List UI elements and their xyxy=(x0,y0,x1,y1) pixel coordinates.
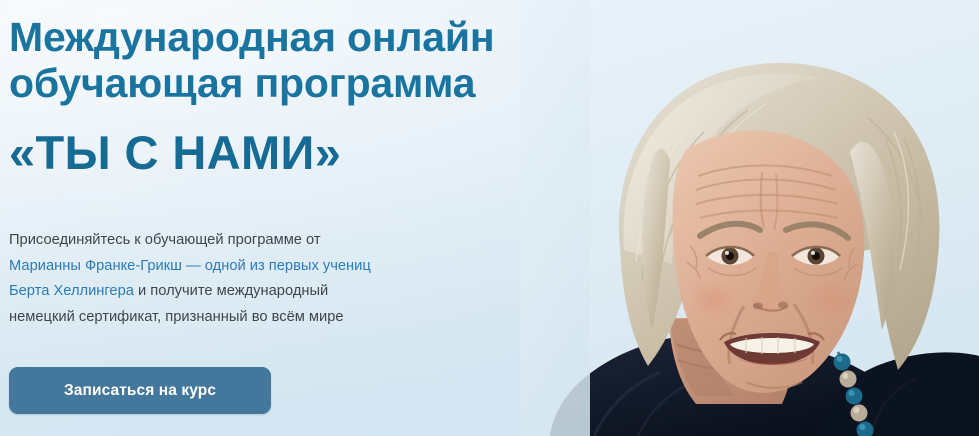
page-title: Международная онлайн обучающая программа xyxy=(9,14,629,106)
hero-banner: Международная онлайн обучающая программа… xyxy=(0,0,979,436)
headline-line-1: Международная онлайн xyxy=(9,14,629,60)
cta-wrapper: Записаться на курс xyxy=(9,367,271,414)
headline-line-2: обучающая программа xyxy=(9,60,629,106)
subcopy-line-3: Берта Хеллингера и получите международны… xyxy=(9,279,509,305)
mentor-name-link[interactable]: Марианны Франке-Грикш — одной из первых … xyxy=(9,258,371,274)
subcopy-line-4: немецкий сертификат, признанный во всём … xyxy=(9,305,509,331)
enroll-button[interactable]: Записаться на курс xyxy=(9,367,271,414)
subcopy-line-1: Присоединяйтесь к обучающей программе от xyxy=(9,228,509,254)
headline-accent: «ТЫ С НАМИ» xyxy=(9,126,629,180)
subcopy-line-3-plain: и получите международный xyxy=(134,283,328,299)
subcopy-line-2: Марианны Франке-Грикш — одной из первых … xyxy=(9,254,509,280)
hero-subcopy: Присоединяйтесь к обучающей программе от… xyxy=(9,228,509,330)
hero-content: Международная онлайн обучающая программа… xyxy=(9,0,649,436)
founder-name-link[interactable]: Берта Хеллингера xyxy=(9,283,134,299)
